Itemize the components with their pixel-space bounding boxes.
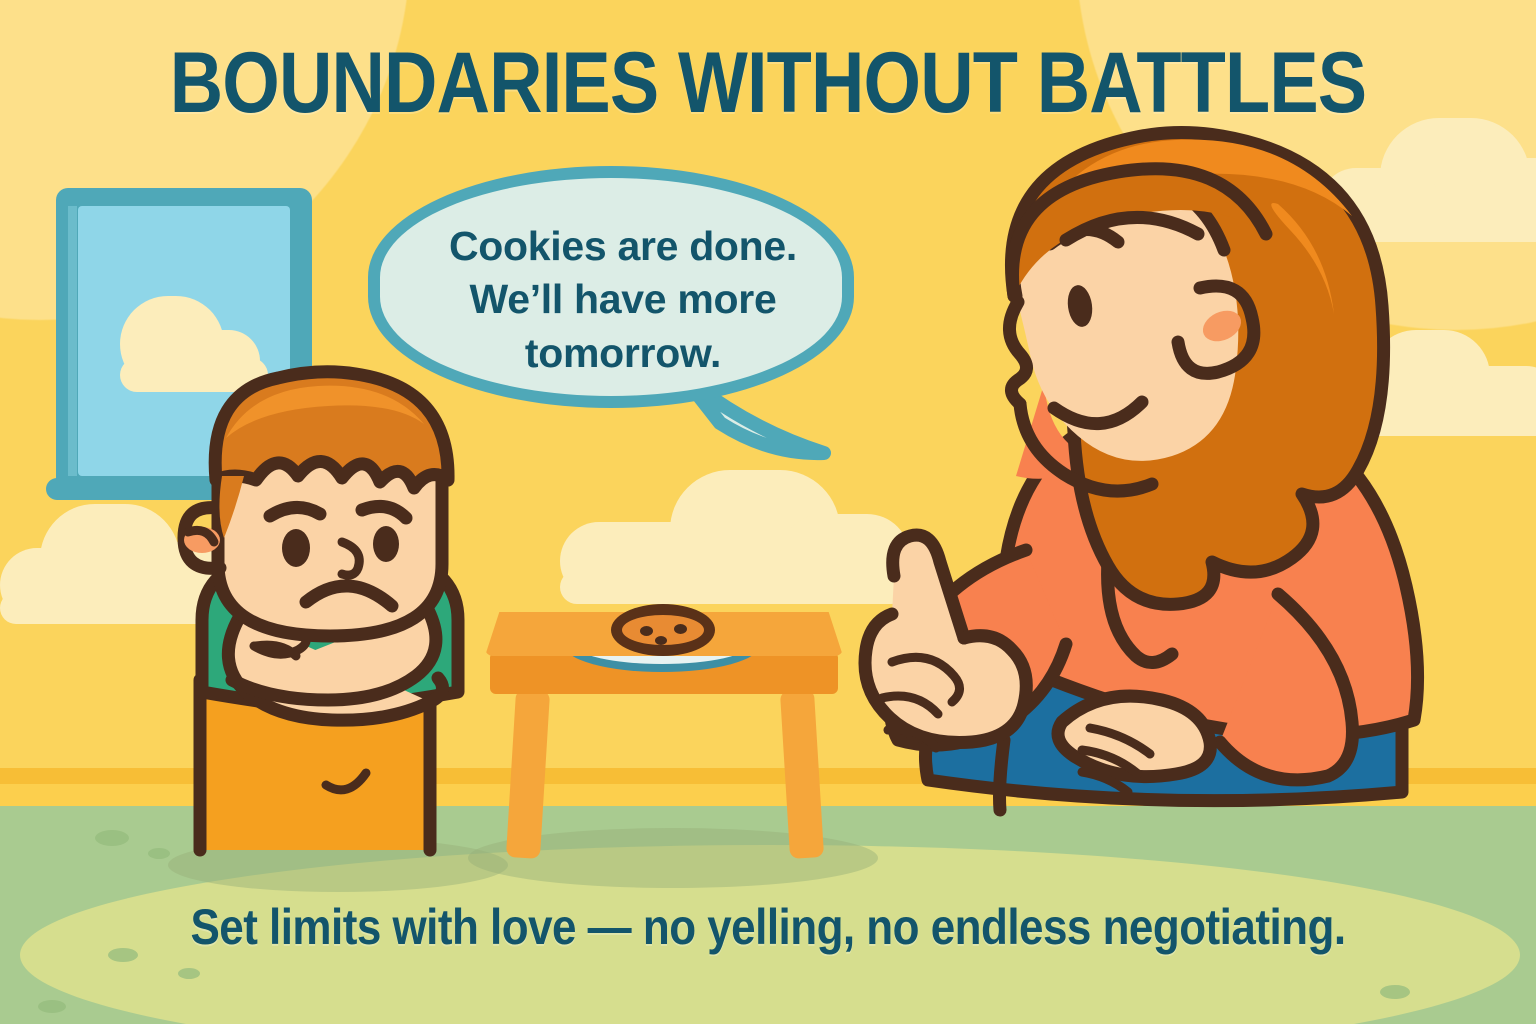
floor-speck (178, 968, 200, 979)
boy-eye-left (282, 529, 310, 567)
mother-jeans-crease (1000, 740, 1005, 810)
floor-speck (38, 1000, 66, 1013)
poster-illustration: Cookies are done. We’ll have more tomorr… (0, 0, 1536, 1024)
page-title: BOUNDARIES WITHOUT BATTLES (108, 34, 1429, 133)
cookie-chip (674, 624, 687, 634)
boy-eye-right (373, 526, 399, 562)
cookie-chip (655, 636, 667, 645)
floor-speck (1380, 985, 1410, 999)
floor-speck (95, 830, 129, 846)
mother-character (808, 120, 1428, 900)
cookie-chip (640, 626, 653, 636)
speech-line-3: tomorrow. (525, 327, 721, 380)
table (485, 612, 855, 862)
speech-bubble-text: Cookies are done. We’ll have more tomorr… (414, 210, 832, 390)
speech-bubble: Cookies are done. We’ll have more tomorr… (368, 166, 868, 456)
caption-text: Set limits with love — no yelling, no en… (92, 898, 1444, 956)
speech-bubble-body: Cookies are done. We’ll have more tomorr… (368, 166, 854, 408)
window-mullion (68, 206, 77, 476)
table-leg-left (506, 689, 550, 859)
speech-line-2: We’ll have more (470, 273, 777, 326)
speech-line-1: Cookies are done. (449, 220, 797, 273)
cookie (611, 604, 715, 656)
